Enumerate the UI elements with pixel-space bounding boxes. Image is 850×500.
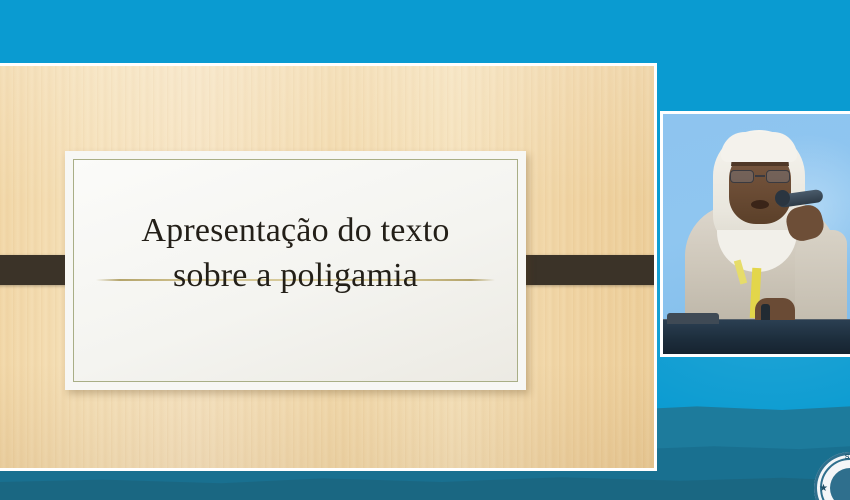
microphone-head: [775, 190, 790, 206]
badge-top-text: SJ: [814, 454, 850, 461]
slide-title-card-inner-border: Apresentação do texto sobre a poligamia: [73, 159, 518, 382]
slide-title-line-2: sobre a poligamia: [74, 253, 517, 298]
organization-badge-logo: SJ ★ ★ ST: [814, 452, 850, 500]
slide-title-line-1: Apresentação do texto: [74, 208, 517, 253]
eyeglasses-icon: [729, 170, 791, 183]
speaker-video-tile[interactable]: [660, 111, 850, 357]
eyeglass-lens-right: [766, 170, 790, 183]
table-surface: [663, 320, 850, 354]
badge-star-left: ★: [819, 484, 828, 494]
slide-title: Apresentação do texto sobre a poligamia: [74, 208, 517, 298]
shared-slide[interactable]: Apresentação do texto sobre a poligamia: [0, 63, 657, 471]
slide-title-card: Apresentação do texto sobre a poligamia: [65, 151, 526, 390]
laptop-on-table: [667, 313, 719, 324]
speaker-mouth: [751, 200, 769, 209]
speaker-shoulder-right: [795, 230, 847, 326]
speaker-head-covering: [721, 132, 797, 162]
screen: Apresentação do texto sobre a poligamia: [0, 0, 850, 500]
eyeglass-bridge: [755, 175, 765, 177]
eyeglass-lens-left: [730, 170, 754, 183]
slide-ribbon-right: [510, 255, 657, 285]
